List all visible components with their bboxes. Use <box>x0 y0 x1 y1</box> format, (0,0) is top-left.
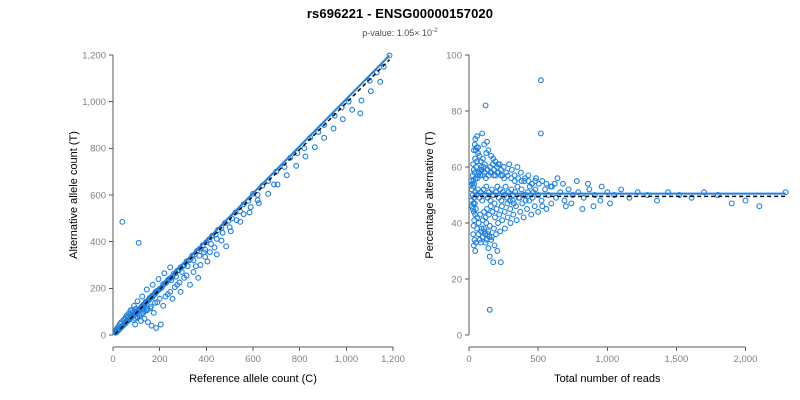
data-point <box>482 209 487 214</box>
data-point <box>494 207 499 212</box>
data-point <box>150 282 155 287</box>
data-point <box>507 162 512 167</box>
data-point <box>519 187 524 192</box>
data-point <box>599 184 604 189</box>
data-point <box>587 187 592 192</box>
y-tick-label: 600 <box>90 190 106 201</box>
x-tick-label: 500 <box>530 354 546 365</box>
data-point <box>471 162 476 167</box>
data-point <box>193 264 198 269</box>
data-point <box>499 167 504 172</box>
data-point <box>303 154 308 159</box>
data-point <box>555 176 560 181</box>
data-point <box>219 238 224 243</box>
data-point <box>191 258 196 263</box>
data-point <box>729 201 734 206</box>
data-point <box>302 146 307 151</box>
data-point <box>515 165 520 170</box>
x-tick-label: 400 <box>198 354 214 365</box>
data-point <box>486 246 491 251</box>
data-point <box>544 207 549 212</box>
data-point <box>562 198 567 203</box>
data-point <box>487 307 492 312</box>
data-point <box>120 219 125 224</box>
data-point <box>481 187 486 192</box>
data-point <box>312 145 317 150</box>
data-point <box>485 139 490 144</box>
data-point <box>294 163 299 168</box>
data-point <box>608 201 613 206</box>
data-point <box>508 207 513 212</box>
data-point <box>473 249 478 254</box>
x-tick-label: 2,000 <box>734 354 758 365</box>
panel-allele-count: 02004006008001,0001,20002004006008001,00… <box>68 50 405 385</box>
y-tick-label: 40 <box>451 218 462 229</box>
panel-percentage: 02040608010005001,0001,5002,000Total num… <box>424 50 788 385</box>
x-axis-title: Reference allele count (C) <box>189 373 317 385</box>
data-point <box>543 187 548 192</box>
data-point <box>491 260 496 265</box>
data-point <box>743 198 748 203</box>
data-point <box>340 117 345 122</box>
data-point <box>472 218 477 223</box>
scatter-points <box>469 78 788 312</box>
y-tick-label: 0 <box>457 330 462 341</box>
data-point <box>178 289 183 294</box>
data-point <box>491 226 496 231</box>
y-tick-label: 400 <box>90 237 106 248</box>
data-point <box>241 212 246 217</box>
data-point <box>483 103 488 108</box>
data-point <box>520 201 525 206</box>
data-point <box>198 263 203 268</box>
data-point <box>480 131 485 136</box>
data-point <box>162 271 167 276</box>
data-point <box>500 204 505 209</box>
data-point <box>322 135 327 140</box>
data-point <box>518 170 523 175</box>
data-point <box>161 303 166 308</box>
x-tick-label: 600 <box>245 354 261 365</box>
data-point <box>140 294 145 299</box>
data-point <box>255 198 260 203</box>
data-point <box>170 296 175 301</box>
data-point <box>209 242 214 247</box>
x-tick-label: 0 <box>466 354 471 365</box>
x-tick-label: 1,000 <box>334 354 358 365</box>
data-point <box>368 89 373 94</box>
data-point <box>563 204 568 209</box>
data-point <box>511 212 516 217</box>
data-point <box>552 181 557 186</box>
data-point <box>378 79 383 84</box>
data-point <box>191 270 196 275</box>
y-tick-label: 1,200 <box>82 50 106 61</box>
data-point <box>527 198 532 203</box>
data-point <box>518 209 523 214</box>
data-point <box>498 229 503 234</box>
data-point <box>471 232 476 237</box>
data-point <box>509 167 514 172</box>
data-point <box>224 244 229 249</box>
data-point <box>256 201 261 206</box>
data-point <box>482 142 487 147</box>
data-point <box>561 181 566 186</box>
data-point <box>358 111 363 116</box>
x-tick-label: 800 <box>292 354 308 365</box>
data-point <box>168 265 173 270</box>
x-tick-label: 1,500 <box>665 354 689 365</box>
data-point <box>539 78 544 83</box>
data-point <box>284 173 289 178</box>
figure-root: rs696221 - ENSG00000157020 p-value: 1.05… <box>0 0 800 400</box>
x-tick-label: 1,200 <box>381 354 405 365</box>
data-point <box>539 198 544 203</box>
x-tick-label: 0 <box>110 354 115 365</box>
data-point <box>350 107 355 112</box>
data-point <box>498 260 503 265</box>
data-point <box>135 299 140 304</box>
data-point <box>196 275 201 280</box>
y-tick-label: 1,000 <box>82 97 106 108</box>
data-point <box>154 326 159 331</box>
data-point <box>580 207 585 212</box>
data-point <box>157 296 162 301</box>
data-point <box>619 187 624 192</box>
data-point <box>502 209 507 214</box>
data-point <box>207 250 212 255</box>
data-point <box>508 221 513 226</box>
data-point <box>492 243 497 248</box>
data-point <box>503 184 508 189</box>
data-point <box>498 187 503 192</box>
data-point <box>476 187 481 192</box>
trend-line-identity <box>115 60 389 334</box>
y-axis-title: Percentage alternative (T) <box>424 131 436 258</box>
plots-svg: 02004006008001,0001,20002004006008001,00… <box>0 0 800 400</box>
data-point <box>149 323 154 328</box>
data-point <box>503 226 508 231</box>
x-tick-label: 1,000 <box>595 354 619 365</box>
data-point <box>480 198 485 203</box>
data-point <box>586 181 591 186</box>
data-point <box>499 198 504 203</box>
data-point <box>757 204 762 209</box>
data-point <box>484 184 489 189</box>
data-point <box>525 207 530 212</box>
data-point <box>569 201 574 206</box>
data-point <box>248 205 253 210</box>
data-point <box>512 173 517 178</box>
data-point <box>598 198 603 203</box>
data-point <box>497 212 502 217</box>
data-point <box>500 218 505 223</box>
data-point <box>247 210 252 215</box>
data-point <box>536 209 541 214</box>
y-axis-title: Alternative allele count (T) <box>68 131 80 259</box>
data-point <box>591 204 596 209</box>
data-point <box>505 215 510 220</box>
data-point <box>331 126 336 131</box>
data-point <box>488 204 493 209</box>
data-point <box>266 191 271 196</box>
data-point <box>495 249 500 254</box>
data-point <box>539 131 544 136</box>
data-point <box>529 212 534 217</box>
y-tick-label: 200 <box>90 284 106 295</box>
y-tick-label: 800 <box>90 144 106 155</box>
data-point <box>514 218 519 223</box>
data-point <box>521 215 526 220</box>
x-tick-label: 200 <box>152 354 168 365</box>
data-point <box>205 259 210 264</box>
data-point <box>359 98 364 103</box>
data-point <box>136 240 141 245</box>
data-point <box>197 253 202 258</box>
data-point <box>487 254 492 259</box>
data-point <box>483 176 488 181</box>
trend-line-regression-fit <box>115 55 389 332</box>
data-point <box>151 310 156 315</box>
data-point <box>188 282 193 287</box>
y-tick-label: 60 <box>451 162 462 173</box>
data-point <box>655 198 660 203</box>
data-point <box>220 230 225 235</box>
y-tick-label: 20 <box>451 274 462 285</box>
data-point <box>203 254 208 259</box>
data-point <box>275 182 280 187</box>
data-point <box>156 277 161 282</box>
data-point <box>501 165 506 170</box>
data-point <box>142 316 147 321</box>
data-point <box>495 184 500 189</box>
data-point <box>549 201 554 206</box>
y-tick-label: 80 <box>451 106 462 117</box>
data-point <box>532 204 537 209</box>
data-point <box>566 187 571 192</box>
y-tick-label: 100 <box>446 50 462 61</box>
data-point <box>214 252 219 257</box>
data-point <box>158 322 163 327</box>
data-point <box>144 287 149 292</box>
data-point <box>526 173 531 178</box>
y-tick-label: 0 <box>101 330 106 341</box>
x-axis-title: Total number of reads <box>554 373 661 385</box>
data-point <box>574 179 579 184</box>
